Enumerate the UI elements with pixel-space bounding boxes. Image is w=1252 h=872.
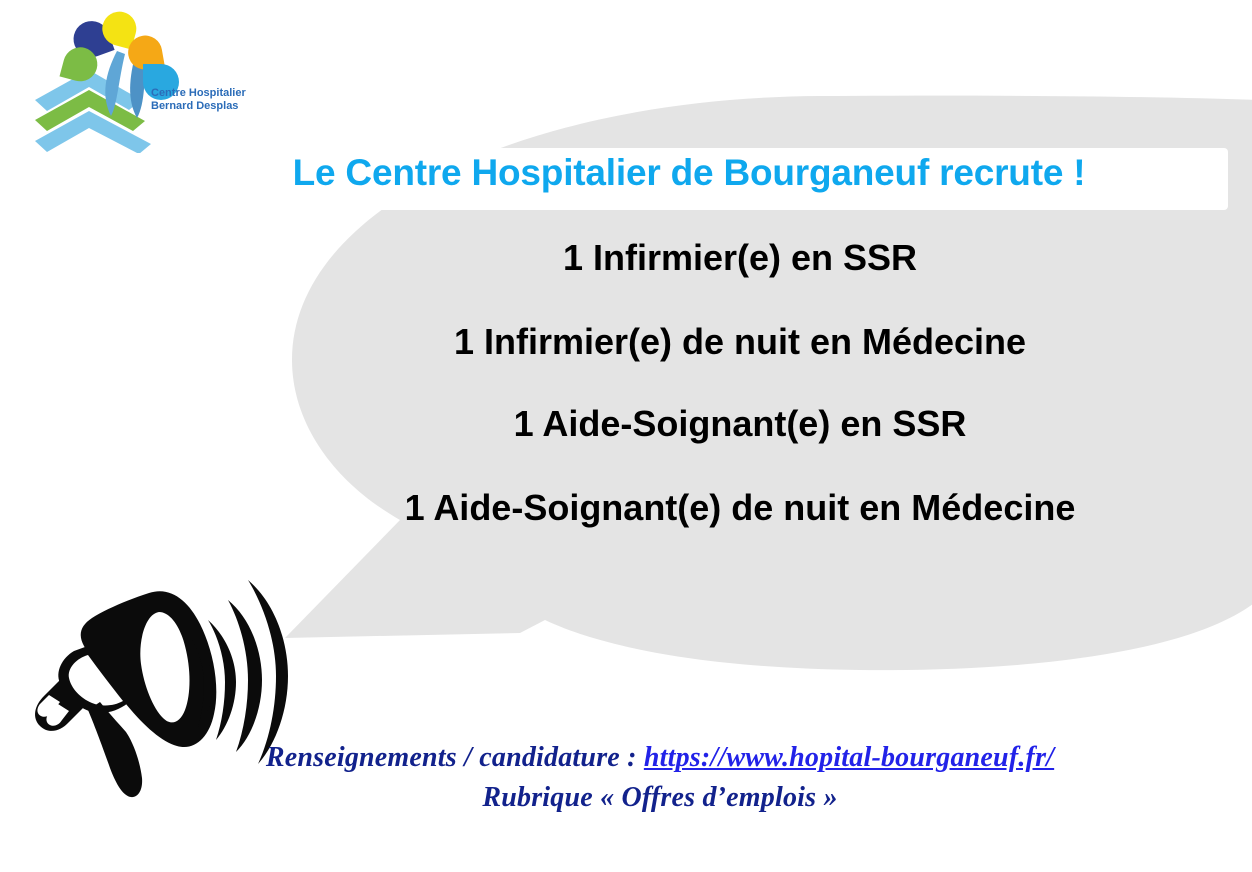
list-item: 1 Infirmier(e) en SSR [290, 240, 1190, 276]
logo-line1: Centre Hospitalier [151, 87, 246, 99]
recruitment-poster: Centre Hospitalier Bernard Desplas Le Ce… [0, 0, 1252, 872]
job-list: 1 Infirmier(e) en SSR 1 Infirmier(e) de … [290, 240, 1190, 526]
list-item: 1 Aide-Soignant(e) en SSR [290, 406, 1190, 442]
list-item: 1 Infirmier(e) de nuit en Médecine [290, 324, 1190, 360]
hospital-logo: Centre Hospitalier Bernard Desplas [33, 8, 258, 153]
contact-line: Renseignements / candidature : https://w… [120, 742, 1200, 774]
footer: Renseignements / candidature : https://w… [120, 742, 1200, 814]
website-link[interactable]: https://www.hopital-bourganeuf.fr/ [644, 742, 1054, 773]
section-note: Rubrique « Offres d’emplois » [120, 782, 1200, 814]
list-item: 1 Aide-Soignant(e) de nuit en Médecine [290, 490, 1190, 526]
contact-label: Renseignements / candidature : [266, 742, 644, 773]
page-title: Le Centre Hospitalier de Bourganeuf recr… [150, 152, 1228, 194]
logo-line2: Bernard Desplas [151, 100, 238, 112]
